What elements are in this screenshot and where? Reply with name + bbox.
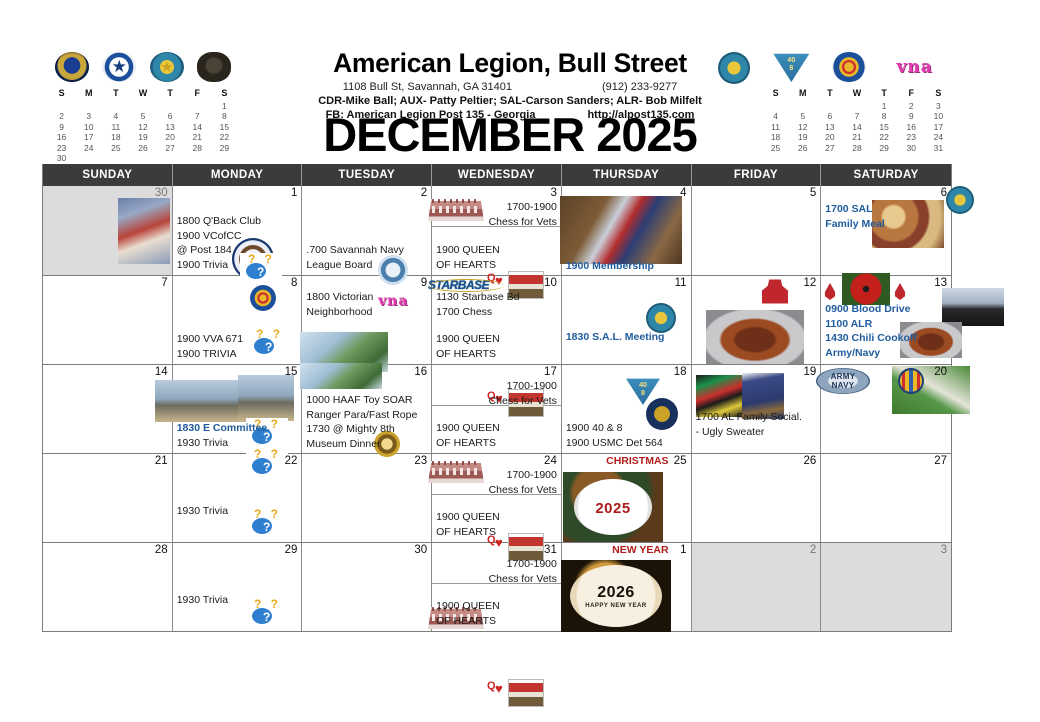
mini-day-empty: . bbox=[816, 101, 843, 112]
event-group: 1800 Q'Back Club1900 VCofCC@ Post 184190… bbox=[177, 214, 261, 272]
phone-number: (912) 233-9277 bbox=[602, 80, 677, 94]
mini-day-empty: . bbox=[157, 101, 184, 112]
event-line: OF HEARTS bbox=[436, 525, 500, 540]
day-number: 9 bbox=[421, 277, 427, 290]
event-group-top: 1700-1900Chess for Vets bbox=[489, 468, 557, 497]
mini-day-28[interactable]: 28 bbox=[184, 143, 211, 154]
day-number: 25 bbox=[674, 455, 687, 468]
mini-day-2[interactable]: 2 bbox=[48, 111, 75, 122]
mini-day-15[interactable]: 15 bbox=[211, 122, 238, 133]
mini-day-16[interactable]: 16 bbox=[898, 122, 925, 133]
mini-dow-4: T bbox=[157, 88, 184, 101]
day-number: 2 bbox=[421, 187, 427, 200]
mini-day-18[interactable]: 18 bbox=[102, 132, 129, 143]
mini-day-empty: . bbox=[102, 153, 129, 164]
mini-day-5[interactable]: 5 bbox=[789, 111, 816, 122]
mini-calendar-previous-grid: SMTWTFS......123456789101112131415161718… bbox=[48, 88, 238, 164]
event-line: 1900 QUEEN bbox=[436, 243, 500, 258]
event-line: 1900 QUEEN bbox=[436, 599, 500, 614]
calendar-day-cell-31[interactable]: 311700-1900Chess for Vets1900 QUEENOF HE… bbox=[432, 543, 562, 631]
mini-dow-0: S bbox=[762, 88, 789, 101]
event-group: 1700 SALFamily Meal bbox=[825, 202, 885, 231]
mini-calendar-next-grid: SMTWTFS....12345678910111213141516171819… bbox=[762, 88, 952, 153]
mini-day-4[interactable]: 4 bbox=[762, 111, 789, 122]
calendar-day-cell-3[interactable]: 3 bbox=[821, 543, 951, 631]
mini-day-7[interactable]: 7 bbox=[843, 111, 870, 122]
event-line: 1900 QUEEN bbox=[436, 421, 500, 436]
mini-dow-6: S bbox=[925, 88, 952, 101]
vietnam-veterans-emblem-icon bbox=[832, 52, 866, 82]
calendar-week-row: 28291930 Trivia30311700-1900Chess for Ve… bbox=[43, 542, 951, 631]
event-line: .700 Savannah Navy bbox=[306, 243, 403, 258]
trivia-question-icon-2: ? bbox=[248, 328, 290, 360]
mini-day-empty: . bbox=[762, 101, 789, 112]
calendar-day-cell-2[interactable]: 2.700 Savannah NavyLeague Board bbox=[302, 186, 432, 275]
day-number: 22 bbox=[285, 455, 298, 468]
event-line: 1100 ALR bbox=[825, 317, 917, 332]
trivia-question-mark: ? bbox=[263, 520, 270, 534]
mini-dow-1: M bbox=[789, 88, 816, 101]
american-legion-emblem-icon bbox=[55, 52, 89, 82]
mini-day-21[interactable]: 21 bbox=[184, 132, 211, 143]
mini-dow-4: T bbox=[871, 88, 898, 101]
event-group: .700 Savannah NavyLeague Board bbox=[306, 243, 403, 272]
mini-day-1[interactable]: 1 bbox=[211, 101, 238, 112]
mini-day-25[interactable]: 25 bbox=[102, 143, 129, 154]
trivia-question-mark: ? bbox=[265, 340, 272, 354]
mini-day-29[interactable]: 29 bbox=[871, 143, 898, 154]
event-line: 1900 Membership bbox=[566, 259, 654, 274]
day-number: 7 bbox=[161, 277, 167, 290]
event-group-bottom: 1900 QUEENOF HEARTS bbox=[436, 510, 500, 539]
trivia-question-mark: ? bbox=[263, 610, 270, 624]
event-line: @ Post 184 bbox=[177, 243, 261, 258]
event-line: 1700 AL Family Social. bbox=[696, 410, 802, 425]
event-line: 1800 Q'Back Club bbox=[177, 214, 261, 229]
event-line: Chess for Vets bbox=[489, 215, 557, 230]
event-line: Chess for Vets bbox=[489, 394, 557, 409]
event-line: 1900 QUEEN bbox=[436, 510, 500, 525]
mini-day-9[interactable]: 9 bbox=[48, 122, 75, 133]
event-line: 1900 40 & 8 bbox=[566, 421, 663, 436]
mini-day-19[interactable]: 19 bbox=[129, 132, 156, 143]
mini-dow-6: S bbox=[211, 88, 238, 101]
event-line: OF HEARTS bbox=[436, 258, 500, 273]
day-number: 16 bbox=[414, 366, 427, 379]
mini-day-10[interactable]: 10 bbox=[925, 111, 952, 122]
day-number: 21 bbox=[155, 455, 168, 468]
forty-and-eight-emblem-icon bbox=[773, 52, 809, 82]
event-group-bottom: 1900 QUEENOF HEARTS bbox=[436, 421, 500, 450]
mini-day-8[interactable]: 8 bbox=[871, 111, 898, 122]
day-number: 15 bbox=[285, 366, 298, 379]
dow-header-thursday: THURSDAY bbox=[562, 164, 692, 186]
christmas-ornament-ball bbox=[574, 479, 652, 535]
mini-day-empty: . bbox=[157, 153, 184, 164]
mini-day-9[interactable]: 9 bbox=[898, 111, 925, 122]
day-number: 13 bbox=[934, 277, 947, 290]
dow-header-saturday: SATURDAY bbox=[821, 164, 951, 186]
new-year-ball: HAPPY NEW YEAR bbox=[570, 565, 662, 627]
dow-header-sunday: SUNDAY bbox=[43, 164, 173, 186]
day-number: 3 bbox=[941, 544, 947, 557]
event-line: Ranger Para/Fast Rope bbox=[306, 408, 417, 423]
mini-day-26[interactable]: 26 bbox=[129, 143, 156, 154]
event-line: Family Meal bbox=[825, 217, 885, 232]
event-line: Neighborhood bbox=[306, 305, 373, 320]
sons-of-american-legion-emblem-icon bbox=[150, 52, 184, 82]
day-number: 1 bbox=[680, 544, 686, 557]
calendar-header: SMTWTFS......123456789101112131415161718… bbox=[0, 0, 1040, 163]
event-line: 1700 Chess bbox=[436, 305, 519, 320]
mini-day-23[interactable]: 23 bbox=[898, 132, 925, 143]
mini-day-17[interactable]: 17 bbox=[75, 132, 102, 143]
day-number: 24 bbox=[544, 455, 557, 468]
mini-day-empty: . bbox=[102, 101, 129, 112]
mini-day-7[interactable]: 7 bbox=[184, 111, 211, 122]
day-number: 18 bbox=[674, 366, 687, 379]
mini-day-22[interactable]: 22 bbox=[871, 132, 898, 143]
helicopter-photo bbox=[238, 375, 294, 421]
day-number: 5 bbox=[810, 187, 816, 200]
event-group: 1800 VictorianNeighborhood bbox=[306, 290, 373, 319]
holiday-label-christmas: CHRISTMAS bbox=[606, 455, 668, 468]
legion-emblem-row-right: vna bbox=[762, 48, 952, 86]
event-line: Museum Dinner bbox=[306, 437, 417, 452]
mini-dow-0: S bbox=[48, 88, 75, 101]
mini-dow-2: T bbox=[816, 88, 843, 101]
day-number: 12 bbox=[803, 277, 816, 290]
calendar-week-row: 3011800 Q'Back Club1900 VCofCC@ Post 184… bbox=[43, 186, 951, 275]
mini-day-14[interactable]: 14 bbox=[184, 122, 211, 133]
event-group: 1930 Trivia bbox=[177, 593, 228, 608]
army-navy-seal-icon bbox=[898, 368, 924, 394]
event-line: 1700-1900 bbox=[489, 557, 557, 572]
calendar-week-row: 21221930 Trivia23241700-1900Chess for Ve… bbox=[43, 453, 951, 542]
event-line: 1830 S.A.L. Meeting bbox=[566, 330, 665, 345]
month-title: DECEMBER 2025 bbox=[250, 110, 770, 160]
event-line: OF HEARTS bbox=[436, 614, 500, 629]
event-line: 1900 VVA 671 bbox=[177, 332, 243, 347]
vna-logo-icon-cell: vna bbox=[378, 293, 408, 309]
event-group-top: 1700-1900Chess for Vets bbox=[489, 557, 557, 586]
mini-dow-5: F bbox=[184, 88, 211, 101]
mini-day-27[interactable]: 27 bbox=[157, 143, 184, 154]
event-line: OF HEARTS bbox=[436, 436, 500, 451]
mini-day-1[interactable]: 1 bbox=[871, 101, 898, 112]
holiday-label-new-year: NEW YEAR bbox=[612, 544, 668, 557]
legion-riders-patch-icon bbox=[197, 52, 231, 82]
mini-day-16[interactable]: 16 bbox=[48, 132, 75, 143]
mini-day-28[interactable]: 28 bbox=[843, 143, 870, 154]
calendar-day-cell-30[interactable]: 30 bbox=[302, 543, 432, 631]
mini-day-24[interactable]: 24 bbox=[925, 132, 952, 143]
event-line: - Ugly Sweater bbox=[696, 425, 802, 440]
event-group: 1830 S.A.L. Meeting bbox=[566, 330, 665, 345]
mini-day-23[interactable]: 23 bbox=[48, 143, 75, 154]
event-group-top: 1130 Starbase Bd1700 Chess bbox=[436, 290, 519, 319]
day-number: 26 bbox=[803, 455, 816, 468]
new-year-subtitle: HAPPY NEW YEAR bbox=[570, 603, 662, 609]
legion-emblem-row-left bbox=[48, 48, 238, 86]
mini-day-empty: . bbox=[184, 153, 211, 164]
event-line: 1930 Trivia bbox=[177, 504, 228, 519]
mini-day-8[interactable]: 8 bbox=[211, 111, 238, 122]
calendar-day-cell-2[interactable]: 2 bbox=[692, 543, 822, 631]
trivia-question-icon-4: ? bbox=[246, 448, 288, 480]
day-number: 8 bbox=[291, 277, 297, 290]
day-number: 19 bbox=[803, 366, 816, 379]
mini-day-5[interactable]: 5 bbox=[129, 111, 156, 122]
mini-day-empty: . bbox=[843, 101, 870, 112]
new-year-2026-photo: HAPPY NEW YEAR bbox=[561, 560, 671, 632]
mini-calendar-previous-month: SMTWTFS......123456789101112131415161718… bbox=[48, 48, 238, 164]
mini-day-19[interactable]: 19 bbox=[789, 132, 816, 143]
mini-day-4[interactable]: 4 bbox=[102, 111, 129, 122]
mini-day-10[interactable]: 10 bbox=[75, 122, 102, 133]
mini-calendar-next-month: vna SMTWTFS....1234567891011121314151617… bbox=[762, 48, 952, 153]
dow-header-tuesday: TUESDAY bbox=[302, 164, 432, 186]
event-line: 1700-1900 bbox=[489, 200, 557, 215]
queen-of-hearts-card-icon-4 bbox=[508, 679, 544, 707]
mini-day-3[interactable]: 3 bbox=[75, 111, 102, 122]
day-number: 17 bbox=[544, 366, 557, 379]
mini-day-11[interactable]: 11 bbox=[762, 122, 789, 133]
mini-dow-3: W bbox=[129, 88, 156, 101]
mini-day-14[interactable]: 14 bbox=[843, 122, 870, 133]
mini-day-12[interactable]: 12 bbox=[129, 122, 156, 133]
legion-cross-emblem-icon bbox=[718, 52, 750, 84]
event-line: 1930 Trivia bbox=[177, 593, 228, 608]
trivia-question-icon-5: ? bbox=[246, 508, 288, 540]
day-number: 11 bbox=[675, 277, 687, 290]
calendar-day-cell-26[interactable]: 26 bbox=[692, 454, 822, 542]
calendar-day-cell-23[interactable]: 23 bbox=[302, 454, 432, 542]
event-line: 1000 HAAF Toy SOAR bbox=[306, 393, 417, 408]
day-number: 30 bbox=[414, 544, 427, 557]
day-number: 1 bbox=[291, 187, 297, 200]
calendar-day-cell-7[interactable]: 7 bbox=[43, 276, 173, 364]
event-group-top: 1700-1900Chess for Vets bbox=[489, 379, 557, 408]
event-line: 1900 Trivia bbox=[177, 258, 261, 273]
day-number: 31 bbox=[544, 544, 557, 557]
membership-meeting-photo bbox=[560, 196, 682, 264]
event-line: 1730 @ Mighty 8th bbox=[306, 422, 417, 437]
calendar-day-cell-21[interactable]: 21 bbox=[43, 454, 173, 542]
event-group: 1900 VVA 6711900 TRIVIA bbox=[177, 332, 243, 361]
mini-day-13[interactable]: 13 bbox=[816, 122, 843, 133]
event-line: 1930 Trivia bbox=[177, 436, 270, 451]
chili-pot-photo bbox=[706, 310, 804, 364]
event-line: 1130 Starbase Bd bbox=[436, 290, 519, 305]
event-line: 1700 SAL bbox=[825, 202, 885, 217]
event-line: Chess for Vets bbox=[489, 572, 557, 587]
mini-day-empty: . bbox=[75, 101, 102, 112]
event-line: 1800 Victorian bbox=[306, 290, 373, 305]
address-row: 1108 Bull St, Savannah, GA 31401 (912) 2… bbox=[250, 80, 770, 94]
day-number: 10 bbox=[544, 277, 557, 290]
day-number: 3 bbox=[550, 187, 556, 200]
mini-day-26[interactable]: 26 bbox=[789, 143, 816, 154]
mini-day-21[interactable]: 21 bbox=[843, 132, 870, 143]
day-number: 6 bbox=[941, 187, 947, 200]
calendar-day-cell-28[interactable]: 28 bbox=[43, 543, 173, 631]
mini-day-18[interactable]: 18 bbox=[762, 132, 789, 143]
day-number: 23 bbox=[414, 455, 427, 468]
day-number: 28 bbox=[155, 544, 168, 557]
event-line: 1700-1900 bbox=[489, 468, 557, 483]
poppy-flower-photo bbox=[842, 273, 890, 305]
street-address: 1108 Bull St, Savannah, GA 31401 bbox=[343, 80, 512, 94]
dow-header-monday: MONDAY bbox=[173, 164, 303, 186]
sal-emblem-icon bbox=[946, 186, 974, 214]
event-group-bottom: 1900 QUEENOF HEARTS bbox=[436, 332, 500, 361]
event-line: League Board bbox=[306, 258, 403, 273]
day-number: 14 bbox=[155, 366, 168, 379]
christmas-ornament-photo bbox=[563, 472, 663, 542]
toy-drop-photo-2 bbox=[300, 363, 382, 389]
mini-day-30[interactable]: 30 bbox=[48, 153, 75, 164]
day-number: 2 bbox=[810, 544, 816, 557]
event-group: 1900 Membership bbox=[566, 259, 654, 274]
event-group-bottom: 1900 QUEENOF HEARTS bbox=[436, 599, 500, 628]
calendar-page: SMTWTFS......123456789101112131415161718… bbox=[0, 0, 1040, 722]
event-group-top: 1700-1900Chess for Vets bbox=[489, 200, 557, 229]
mini-day-empty: . bbox=[789, 101, 816, 112]
mini-dow-1: M bbox=[75, 88, 102, 101]
mini-day-25[interactable]: 25 bbox=[762, 143, 789, 154]
mini-day-17[interactable]: 17 bbox=[925, 122, 952, 133]
event-line: 0900 Blood Drive bbox=[825, 302, 917, 317]
event-line: Chess for Vets bbox=[489, 483, 557, 498]
mini-day-empty: . bbox=[75, 153, 102, 164]
mini-day-30[interactable]: 30 bbox=[898, 143, 925, 154]
mini-day-empty: . bbox=[184, 101, 211, 112]
mini-day-2[interactable]: 2 bbox=[898, 101, 925, 112]
trivia-question-icon-6: ? bbox=[246, 598, 288, 630]
mini-dow-3: W bbox=[843, 88, 870, 101]
day-number: 27 bbox=[934, 455, 947, 468]
day-of-week-header-row: SUNDAYMONDAYTUESDAYWEDNESDAYTHURSDAYFRID… bbox=[43, 164, 951, 186]
trivia-question-mark: ? bbox=[263, 460, 270, 474]
vna-logo-icon: vna bbox=[889, 56, 941, 78]
calendar-day-cell-14[interactable]: 14 bbox=[43, 365, 173, 453]
event-group-bottom: 1900 QUEENOF HEARTS bbox=[436, 243, 500, 272]
mini-day-29[interactable]: 29 bbox=[211, 143, 238, 154]
event-group: 1830 E Committee.1930 Trivia bbox=[177, 421, 270, 450]
event-line: 1430 Chili Cookoff bbox=[825, 331, 917, 346]
mini-day-31[interactable]: 31 bbox=[925, 143, 952, 154]
dow-header-wednesday: WEDNESDAY bbox=[432, 164, 562, 186]
day-number: 4 bbox=[680, 187, 686, 200]
army-navy-game-logo-icon: ARMYNAVY bbox=[816, 368, 870, 394]
mini-day-empty: . bbox=[129, 101, 156, 112]
organization-title: American Legion, Bull Street bbox=[250, 48, 770, 78]
legion-auxiliary-emblem-icon bbox=[102, 52, 136, 82]
event-group: 1700 AL Family Social.- Ugly Sweater bbox=[696, 410, 802, 439]
baseball-photo bbox=[118, 198, 170, 264]
mini-day-empty: . bbox=[211, 153, 238, 164]
mini-day-11[interactable]: 11 bbox=[102, 122, 129, 133]
event-line: 1900 USMC Det 564 bbox=[566, 436, 663, 451]
mini-day-24[interactable]: 24 bbox=[75, 143, 102, 154]
day-number: 29 bbox=[285, 544, 298, 557]
motorcycle-photo bbox=[942, 288, 1004, 326]
event-line: OF HEARTS bbox=[436, 347, 500, 362]
calendar-day-cell-5[interactable]: 5 bbox=[692, 186, 822, 275]
sal-emblem-icon-2 bbox=[646, 303, 676, 333]
event-line: 1700-1900 bbox=[489, 379, 557, 394]
mini-day-6[interactable]: 6 bbox=[816, 111, 843, 122]
mini-day-20[interactable]: 20 bbox=[816, 132, 843, 143]
mini-day-13[interactable]: 13 bbox=[157, 122, 184, 133]
event-group: 1930 Trivia bbox=[177, 504, 228, 519]
mini-day-6[interactable]: 6 bbox=[157, 111, 184, 122]
event-group: 1900 40 & 81900 USMC Det 564 bbox=[566, 421, 663, 450]
mini-day-22[interactable]: 22 bbox=[211, 132, 238, 143]
mini-day-empty: . bbox=[129, 153, 156, 164]
mini-day-3[interactable]: 3 bbox=[925, 101, 952, 112]
mini-day-empty: . bbox=[48, 101, 75, 112]
mini-day-12[interactable]: 12 bbox=[789, 122, 816, 133]
event-group: 0900 Blood Drive1100 ALR1430 Chili Cooko… bbox=[825, 302, 917, 360]
day-number: 30 bbox=[155, 187, 168, 200]
mini-day-20[interactable]: 20 bbox=[157, 132, 184, 143]
event-line: 1830 E Committee. bbox=[177, 421, 270, 436]
mini-day-15[interactable]: 15 bbox=[871, 122, 898, 133]
day-number: 20 bbox=[934, 366, 947, 379]
calendar-day-cell-1[interactable]: 11800 Q'Back Club1900 VCofCC@ Post 18419… bbox=[173, 186, 303, 275]
calendar-day-cell-27[interactable]: 27 bbox=[821, 454, 951, 542]
dow-header-friday: FRIDAY bbox=[692, 164, 822, 186]
mini-day-27[interactable]: 27 bbox=[816, 143, 843, 154]
event-group: 1000 HAAF Toy SOARRanger Para/Fast Rope1… bbox=[306, 393, 417, 451]
mini-dow-5: F bbox=[898, 88, 925, 101]
vietnam-veterans-seal-icon bbox=[250, 285, 276, 311]
event-line: Army/Navy bbox=[825, 346, 917, 361]
mini-dow-2: T bbox=[102, 88, 129, 101]
officers-line: CDR-Mike Ball; AUX- Patty Peltier; SAL-C… bbox=[250, 94, 770, 108]
event-line: 1900 VCofCC bbox=[177, 229, 261, 244]
event-line: 1900 QUEEN bbox=[436, 332, 500, 347]
event-line: 1900 TRIVIA bbox=[177, 347, 243, 362]
